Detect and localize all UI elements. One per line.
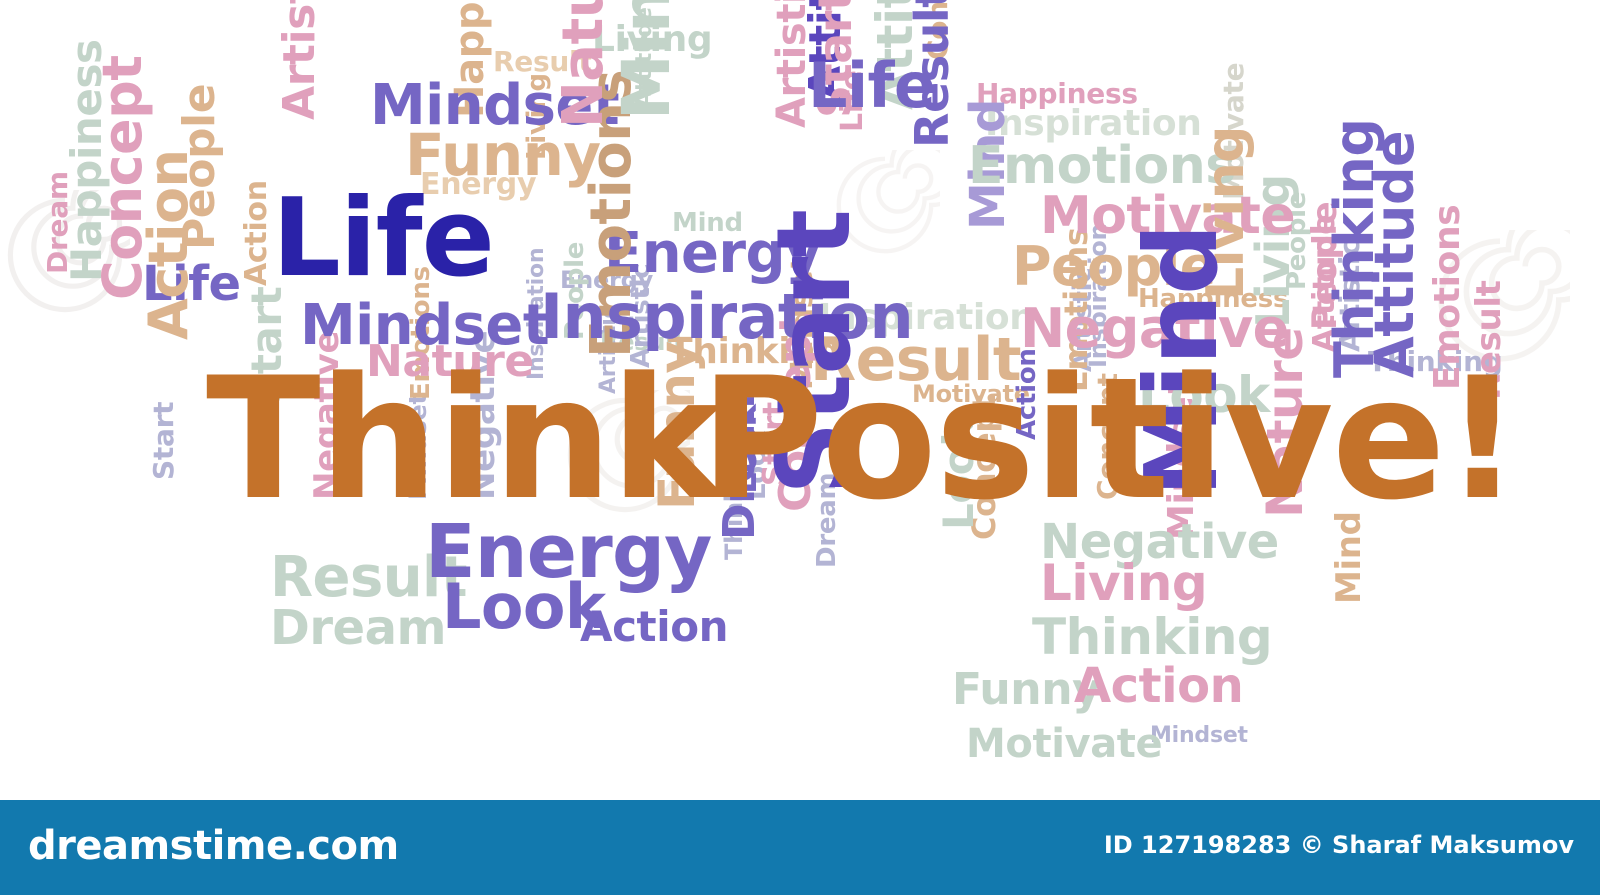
word-living-39: Living [1040, 558, 1207, 608]
word-life-11: Life [808, 55, 935, 117]
image-credit: ID 127198283 © Sharaf Maksumov [1104, 831, 1574, 859]
word-mind-84: Mind [614, 0, 680, 120]
dreamstime-logo-text: dreamstime.com [28, 823, 399, 869]
word-action-43: Action [1074, 662, 1243, 710]
word-start-79: Start [150, 402, 178, 480]
word-concept-47: Concept [96, 56, 150, 301]
word-motivate-29: Motivate [966, 724, 1162, 764]
word-life-2: Life [272, 185, 494, 293]
word-thinking-57: Thinking [1032, 612, 1272, 662]
wordcloud-canvas: ThinkPositive!LifeStartMindEnergyInspira… [0, 0, 1600, 800]
footer-bar: dreamstime.com ID 127198283 © Sharaf Mak… [0, 800, 1600, 895]
dreamstime-logo: dreamstime.com [28, 823, 399, 869]
word-positive-1: Positive! [700, 355, 1519, 523]
word-dream-62: Dream [270, 604, 446, 652]
word-think-0: Think [206, 355, 721, 523]
word-mindset-90: Mindset [1150, 725, 1248, 747]
word-artistic-70: Artistic [278, 0, 322, 120]
word-nature-21: Nature [556, 0, 612, 128]
word-action-45: Action [242, 180, 272, 286]
word-thinking-58: Thinking [1328, 119, 1382, 378]
